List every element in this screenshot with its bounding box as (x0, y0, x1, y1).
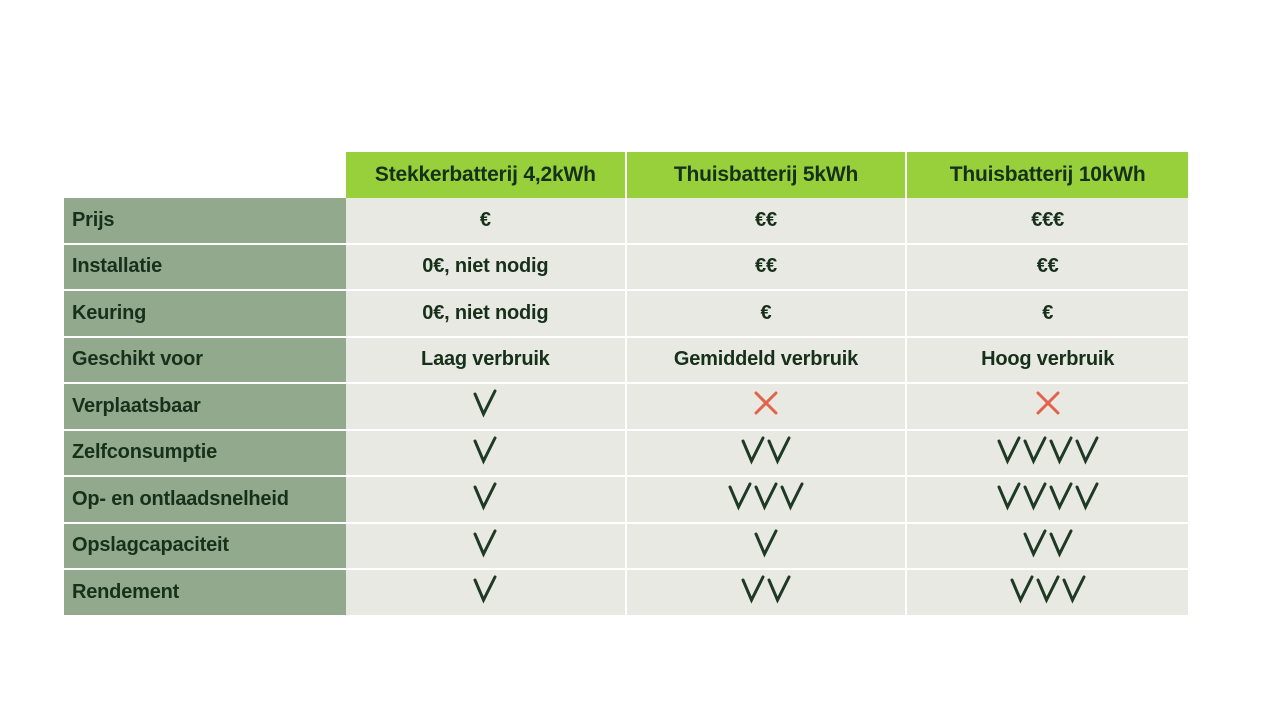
cell-r8-c1 (346, 522, 627, 569)
check-icon (753, 481, 779, 511)
check-icon (1061, 574, 1087, 604)
cell-r4-c1: Laag verbruik (346, 336, 627, 383)
check-mark-group (740, 574, 792, 604)
cell-r6-c3 (907, 429, 1188, 476)
table-row: Verplaatsbaar (64, 382, 1188, 429)
row-label-8: Opslagcapaciteit (64, 522, 346, 569)
check-icon (779, 481, 805, 511)
cross-icon (1034, 389, 1062, 417)
check-icon (472, 435, 498, 465)
table-row: Installatie0€, niet nodig€€€€ (64, 243, 1188, 290)
check-icon (1022, 435, 1048, 465)
column-header-3: Thuisbatterij 10kWh (907, 152, 1188, 198)
check-icon (740, 435, 766, 465)
cell-r4-c2: Gemiddeld verbruik (627, 336, 908, 383)
check-mark-group (472, 528, 498, 558)
table-row: Keuring0€, niet nodig€€ (64, 289, 1188, 336)
check-icon (1048, 435, 1074, 465)
table-row: Rendement (64, 568, 1188, 615)
check-mark-group (472, 388, 498, 418)
check-icon (996, 435, 1022, 465)
table-corner-cell (64, 152, 346, 198)
check-icon (996, 481, 1022, 511)
battery-comparison-table: Stekkerbatterij 4,2kWhThuisbatterij 5kWh… (64, 152, 1188, 615)
cell-r5-c3 (907, 382, 1188, 429)
check-icon (740, 574, 766, 604)
table-body: Prijs€€€€€€Installatie0€, niet nodig€€€€… (64, 198, 1188, 615)
cross-mark-group (752, 389, 780, 417)
cell-r7-c2 (627, 475, 908, 522)
row-label-9: Rendement (64, 568, 346, 615)
row-label-5: Verplaatsbaar (64, 382, 346, 429)
cell-r2-c3: €€ (907, 243, 1188, 290)
check-icon (727, 481, 753, 511)
table-row: Opslagcapaciteit (64, 522, 1188, 569)
column-header-2: Thuisbatterij 5kWh (627, 152, 908, 198)
check-mark-group (1009, 574, 1087, 604)
row-label-6: Zelfconsumptie (64, 429, 346, 476)
check-icon (472, 528, 498, 558)
cross-icon (752, 389, 780, 417)
check-icon (1074, 481, 1100, 511)
table-row: Geschikt voorLaag verbruikGemiddeld verb… (64, 336, 1188, 383)
check-mark-group (472, 481, 498, 511)
check-mark-group (472, 435, 498, 465)
check-mark-group (996, 435, 1100, 465)
battery-comparison-table-container: Stekkerbatterij 4,2kWhThuisbatterij 5kWh… (64, 152, 1188, 600)
cell-r1-c1: € (346, 198, 627, 243)
check-icon (1022, 481, 1048, 511)
table-row: Zelfconsumptie (64, 429, 1188, 476)
row-label-7: Op- en ontlaadsnelheid (64, 475, 346, 522)
check-icon (1035, 574, 1061, 604)
cell-r9-c2 (627, 568, 908, 615)
cell-r1-c3: €€€ (907, 198, 1188, 243)
check-mark-group (1022, 528, 1074, 558)
check-mark-group (472, 574, 498, 604)
check-mark-group (727, 481, 805, 511)
table-header-row: Stekkerbatterij 4,2kWhThuisbatterij 5kWh… (64, 152, 1188, 198)
check-icon (472, 481, 498, 511)
cell-r2-c2: €€ (627, 243, 908, 290)
cell-r9-c1 (346, 568, 627, 615)
table-header: Stekkerbatterij 4,2kWhThuisbatterij 5kWh… (64, 152, 1188, 198)
check-icon (472, 388, 498, 418)
row-label-1: Prijs (64, 198, 346, 243)
cell-r5-c1 (346, 382, 627, 429)
check-mark-group (996, 481, 1100, 511)
check-mark-group (753, 528, 779, 558)
cell-r7-c1 (346, 475, 627, 522)
check-icon (1048, 528, 1074, 558)
cell-r2-c1: 0€, niet nodig (346, 243, 627, 290)
cell-r9-c3 (907, 568, 1188, 615)
cell-r7-c3 (907, 475, 1188, 522)
cell-r1-c2: €€ (627, 198, 908, 243)
cell-r3-c1: 0€, niet nodig (346, 289, 627, 336)
cell-r8-c2 (627, 522, 908, 569)
cell-r4-c3: Hoog verbruik (907, 336, 1188, 383)
check-icon (766, 574, 792, 604)
check-icon (753, 528, 779, 558)
row-label-3: Keuring (64, 289, 346, 336)
check-icon (1074, 435, 1100, 465)
check-icon (472, 574, 498, 604)
check-icon (1022, 528, 1048, 558)
check-icon (1048, 481, 1074, 511)
check-icon (766, 435, 792, 465)
row-label-4: Geschikt voor (64, 336, 346, 383)
cell-r6-c2 (627, 429, 908, 476)
cell-r8-c3 (907, 522, 1188, 569)
cell-r3-c2: € (627, 289, 908, 336)
cell-r5-c2 (627, 382, 908, 429)
cell-r6-c1 (346, 429, 627, 476)
table-row: Prijs€€€€€€ (64, 198, 1188, 243)
cell-r3-c3: € (907, 289, 1188, 336)
table-row: Op- en ontlaadsnelheid (64, 475, 1188, 522)
check-icon (1009, 574, 1035, 604)
cross-mark-group (1034, 389, 1062, 417)
check-mark-group (740, 435, 792, 465)
row-label-2: Installatie (64, 243, 346, 290)
column-header-1: Stekkerbatterij 4,2kWh (346, 152, 627, 198)
